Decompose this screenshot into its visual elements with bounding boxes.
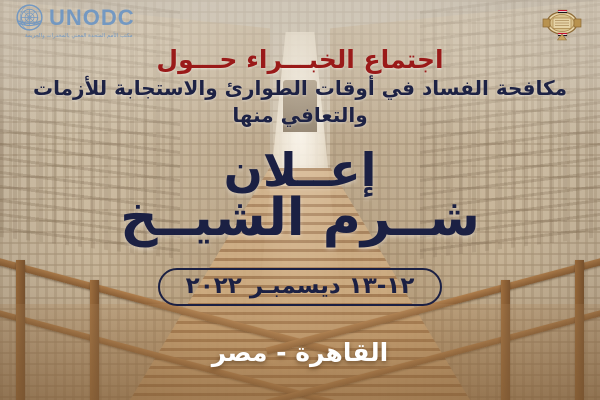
event-date-pill: ١٢-١٣ ديسمبـر ٢٠٢٢ bbox=[158, 268, 443, 306]
event-date-text: ١٢-١٣ ديسمبـر ٢٠٢٢ bbox=[186, 273, 415, 299]
event-location: القاهرة - مصر bbox=[0, 338, 600, 367]
headline-line-1: اجتماع الخبـــراء حـــول bbox=[0, 44, 600, 75]
unodc-logo: UNODC مكتب الأمم المتحدة المعني بالمخدرا… bbox=[16, 4, 135, 39]
headline-line-3: والتعافي منها bbox=[0, 102, 600, 129]
unodc-wordmark: UNODC bbox=[49, 7, 135, 29]
declaration-line-1: إعــلان bbox=[0, 148, 600, 193]
event-poster: UNODC مكتب الأمم المتحدة المعني بالمخدرا… bbox=[0, 0, 600, 400]
unodc-logo-row: UNODC bbox=[16, 4, 135, 31]
declaration-title: إعــلان شــرم الشيــخ bbox=[0, 148, 600, 246]
event-date-wrap: ١٢-١٣ ديسمبـر ٢٠٢٢ bbox=[0, 268, 600, 306]
poster-content: UNODC مكتب الأمم المتحدة المعني بالمخدرا… bbox=[0, 0, 600, 400]
un-emblem-icon bbox=[16, 4, 43, 31]
headline-block: اجتماع الخبـــراء حـــول مكافحة الفساد ف… bbox=[0, 44, 600, 129]
egypt-crest-icon bbox=[538, 4, 586, 44]
headline-line-2: مكافحة الفساد في أوقات الطوارئ والاستجاب… bbox=[0, 75, 600, 102]
unodc-arabic-subtitle: مكتب الأمم المتحدة المعني بالمخدرات والج… bbox=[25, 33, 133, 39]
declaration-line-2: شــرم الشيــخ bbox=[0, 191, 600, 246]
